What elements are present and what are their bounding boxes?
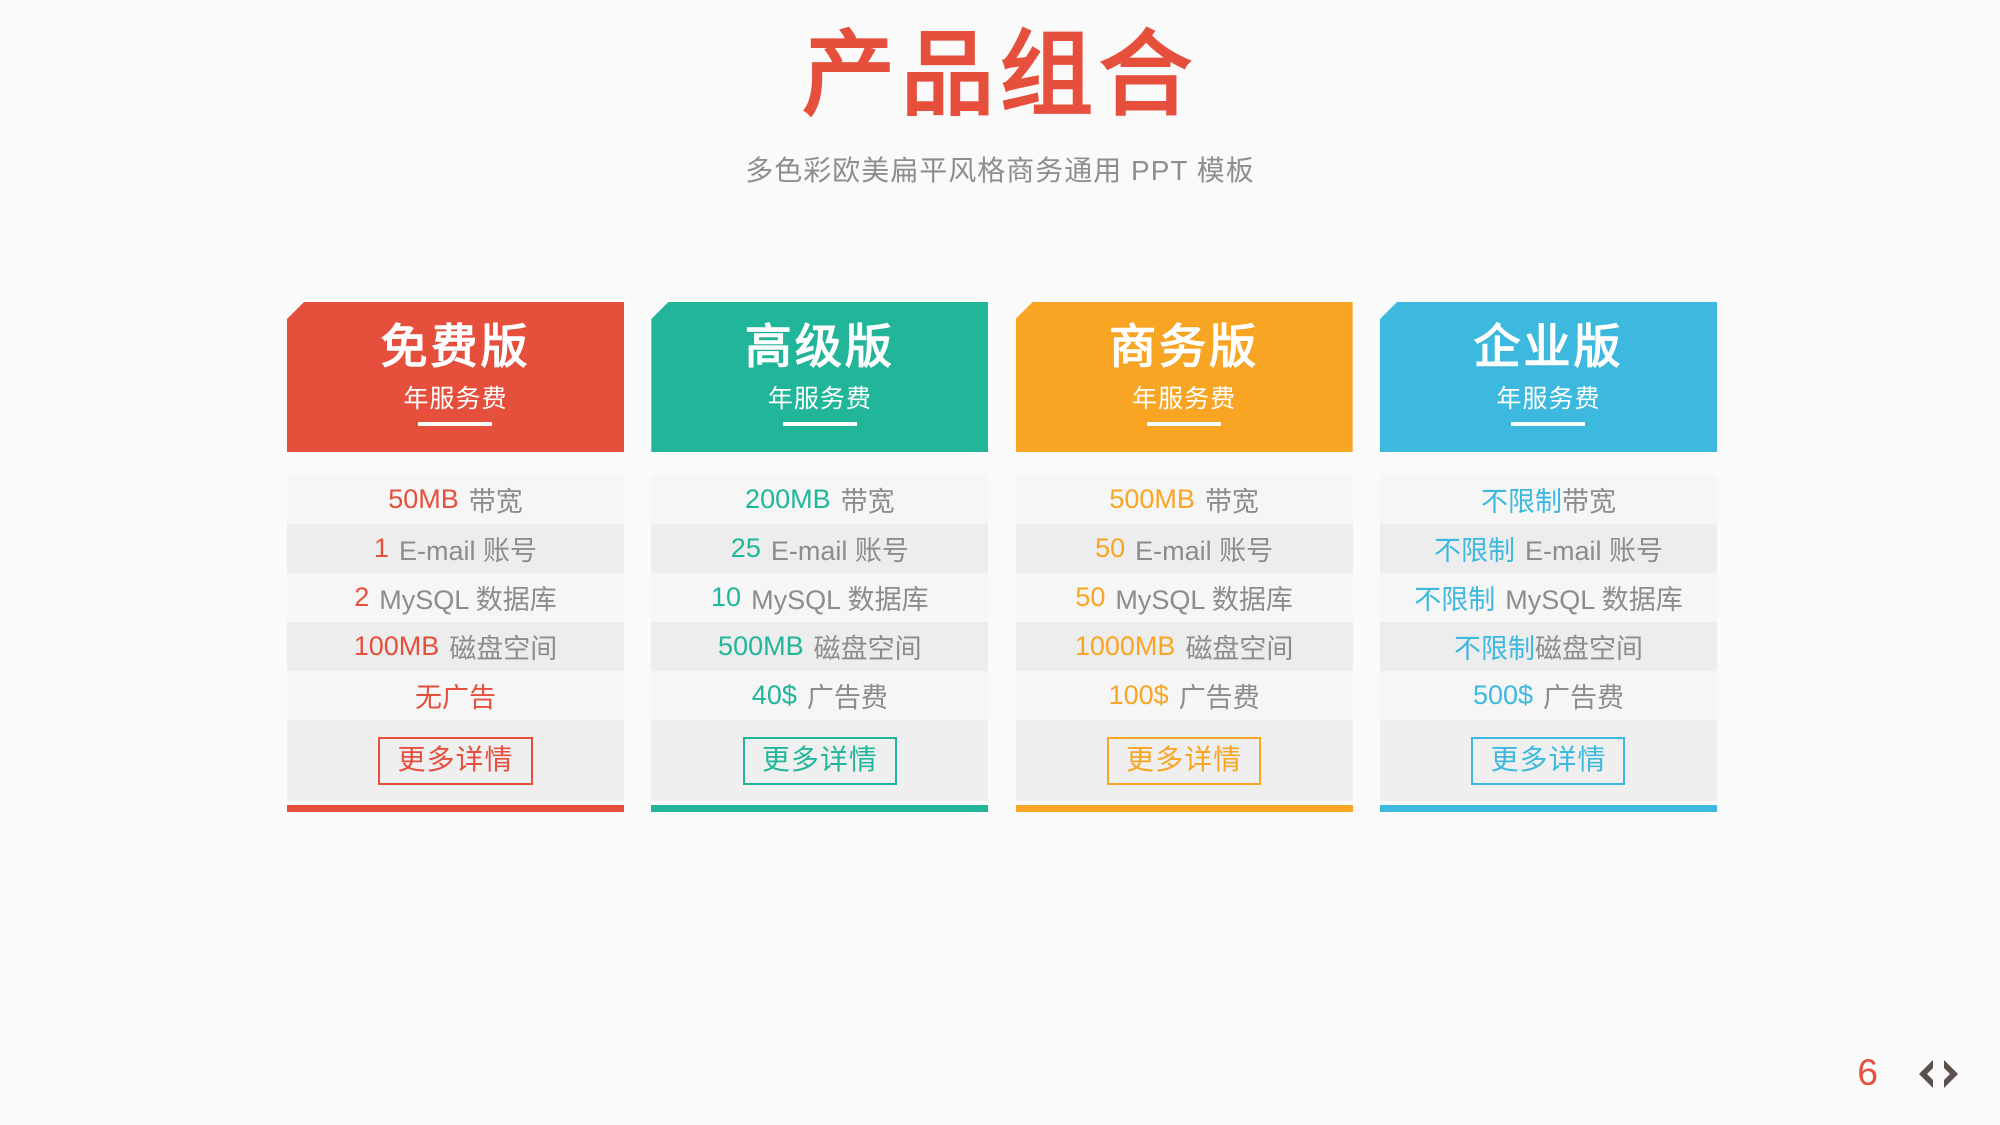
feature-value: 50 [1075, 582, 1105, 613]
pricing-card: 商务版年服务费500MB带宽50E-mail 账号50MySQL 数据库1000… [1016, 302, 1353, 812]
chevron-left-icon[interactable] [1911, 1057, 1937, 1091]
plan-price-underline [418, 422, 492, 426]
feature-value: 无广告 [415, 676, 496, 715]
plan-price-label: 年服务费 [1496, 379, 1600, 426]
pricing-card-bottom-bar [651, 805, 988, 812]
plan-name: 商务版 [1016, 320, 1353, 375]
pricing-card-cta-area: 更多详情 [1016, 720, 1353, 801]
feature-value: 不限制 [1454, 627, 1535, 666]
plan-price-label: 年服务费 [1132, 379, 1236, 426]
more-details-button[interactable]: 更多详情 [1471, 737, 1625, 785]
feature-row: 100MB磁盘空间 [287, 622, 624, 671]
feature-label: E-mail 账号 [1135, 529, 1273, 568]
feature-label: 带宽 [1562, 480, 1616, 519]
feature-value: 10 [711, 582, 741, 613]
plan-name: 高级版 [651, 320, 988, 375]
feature-label: E-mail 账号 [771, 529, 909, 568]
feature-value: 200MB [745, 484, 831, 515]
feature-label: 磁盘空间 [449, 627, 557, 666]
feature-value: 不限制 [1414, 578, 1495, 617]
pricing-card-cta-area: 更多详情 [1380, 720, 1717, 801]
feature-value: 40$ [752, 680, 797, 711]
header-notch-triangle [1174, 452, 1194, 468]
feature-label: 带宽 [841, 480, 895, 519]
more-details-button[interactable]: 更多详情 [378, 737, 532, 785]
feature-label: MySQL 数据库 [1115, 578, 1293, 617]
feature-row: 不限制E-mail 账号 [1380, 524, 1717, 573]
pricing-card-cta-area: 更多详情 [651, 720, 988, 801]
pricing-card-features: 500MB带宽50E-mail 账号50MySQL 数据库1000MB磁盘空间1… [1016, 475, 1353, 720]
feature-value: 50 [1095, 533, 1125, 564]
plan-price-text: 年服务费 [1496, 385, 1600, 413]
feature-label: E-mail 账号 [399, 529, 537, 568]
feature-value: 不限制 [1434, 529, 1515, 568]
plan-name: 企业版 [1380, 320, 1717, 375]
feature-value: 500$ [1473, 680, 1533, 711]
header-notch-triangle [810, 452, 830, 468]
feature-row: 40$广告费 [651, 671, 988, 720]
plan-price-text: 年服务费 [768, 385, 872, 413]
feature-label: 带宽 [469, 480, 523, 519]
feature-value: 100MB [354, 631, 440, 662]
header-notch-triangle [1538, 452, 1558, 468]
plan-price-underline [1511, 422, 1585, 426]
feature-label: 磁盘空间 [1185, 627, 1293, 666]
more-details-button[interactable]: 更多详情 [743, 737, 897, 785]
feature-value: 50MB [388, 484, 459, 515]
chevron-right-icon[interactable] [1940, 1057, 1966, 1091]
feature-row: 50MB带宽 [287, 475, 624, 524]
pricing-card-header: 企业版年服务费 [1380, 302, 1717, 452]
feature-label: MySQL 数据库 [379, 578, 557, 617]
feature-label: 广告费 [1179, 676, 1260, 715]
feature-label: 磁盘空间 [814, 627, 922, 666]
feature-row: 不限制磁盘空间 [1380, 622, 1717, 671]
pricing-card-features: 不限制带宽不限制E-mail 账号不限制MySQL 数据库不限制磁盘空间500$… [1380, 475, 1717, 720]
feature-row: 2MySQL 数据库 [287, 573, 624, 622]
pricing-card-bottom-bar [1016, 805, 1353, 812]
pricing-card-header: 免费版年服务费 [287, 302, 624, 452]
pricing-card-cta-area: 更多详情 [287, 720, 624, 801]
feature-row: 10MySQL 数据库 [651, 573, 988, 622]
pricing-card-features: 50MB带宽1E-mail 账号2MySQL 数据库100MB磁盘空间无广告 [287, 475, 624, 720]
feature-value: 2 [354, 582, 369, 613]
feature-row: 500MB磁盘空间 [651, 622, 988, 671]
feature-row: 50MySQL 数据库 [1016, 573, 1353, 622]
pricing-card: 企业版年服务费不限制带宽不限制E-mail 账号不限制MySQL 数据库不限制磁… [1380, 302, 1717, 812]
plan-price-label: 年服务费 [403, 379, 507, 426]
feature-value: 1 [374, 533, 389, 564]
feature-value: 不限制 [1481, 480, 1562, 519]
slide-header: 产品组合 多色彩欧美扁平风格商务通用 PPT 模板 [0, 0, 2000, 189]
feature-row: 1E-mail 账号 [287, 524, 624, 573]
pricing-card-header: 商务版年服务费 [1016, 302, 1353, 452]
feature-label: 带宽 [1205, 480, 1259, 519]
feature-row: 不限制带宽 [1380, 475, 1717, 524]
plan-price-underline [1147, 422, 1221, 426]
feature-label: 广告费 [1543, 676, 1624, 715]
feature-row: 无广告 [287, 671, 624, 720]
pricing-card: 免费版年服务费50MB带宽1E-mail 账号2MySQL 数据库100MB磁盘… [287, 302, 624, 812]
plan-name: 免费版 [287, 320, 624, 375]
feature-value: 100$ [1109, 680, 1169, 711]
feature-label: E-mail 账号 [1525, 529, 1663, 568]
feature-label: 广告费 [807, 676, 888, 715]
pricing-cards-container: 免费版年服务费50MB带宽1E-mail 账号2MySQL 数据库100MB磁盘… [287, 302, 1717, 812]
feature-row: 50E-mail 账号 [1016, 524, 1353, 573]
feature-row: 1000MB磁盘空间 [1016, 622, 1353, 671]
feature-row: 不限制MySQL 数据库 [1380, 573, 1717, 622]
pricing-card: 高级版年服务费200MB带宽25E-mail 账号10MySQL 数据库500M… [651, 302, 988, 812]
pricing-card-bottom-bar [1380, 805, 1717, 812]
page-number: 6 [1857, 1052, 1878, 1094]
feature-row: 200MB带宽 [651, 475, 988, 524]
feature-row: 500$广告费 [1380, 671, 1717, 720]
feature-label: 磁盘空间 [1535, 627, 1643, 666]
feature-label: MySQL 数据库 [1505, 578, 1683, 617]
feature-value: 1000MB [1075, 631, 1176, 662]
feature-value: 500MB [718, 631, 804, 662]
pricing-card-bottom-bar [287, 805, 624, 812]
feature-row: 500MB带宽 [1016, 475, 1353, 524]
plan-price-label: 年服务费 [768, 379, 872, 426]
page-title: 产品组合 [0, 22, 2000, 129]
feature-value: 25 [731, 533, 761, 564]
feature-label: MySQL 数据库 [751, 578, 929, 617]
feature-value: 500MB [1109, 484, 1195, 515]
feature-row: 25E-mail 账号 [651, 524, 988, 573]
pricing-card-features: 200MB带宽25E-mail 账号10MySQL 数据库500MB磁盘空间40… [651, 475, 988, 720]
header-notch-triangle [446, 452, 466, 468]
feature-row: 100$广告费 [1016, 671, 1353, 720]
plan-price-text: 年服务费 [1132, 385, 1236, 413]
plan-price-underline [783, 422, 857, 426]
plan-price-text: 年服务费 [403, 385, 507, 413]
more-details-button[interactable]: 更多详情 [1107, 737, 1261, 785]
pricing-card-header: 高级版年服务费 [651, 302, 988, 452]
slide-navigation[interactable] [1911, 1057, 1966, 1091]
page-subtitle: 多色彩欧美扁平风格商务通用 PPT 模板 [0, 149, 2000, 189]
